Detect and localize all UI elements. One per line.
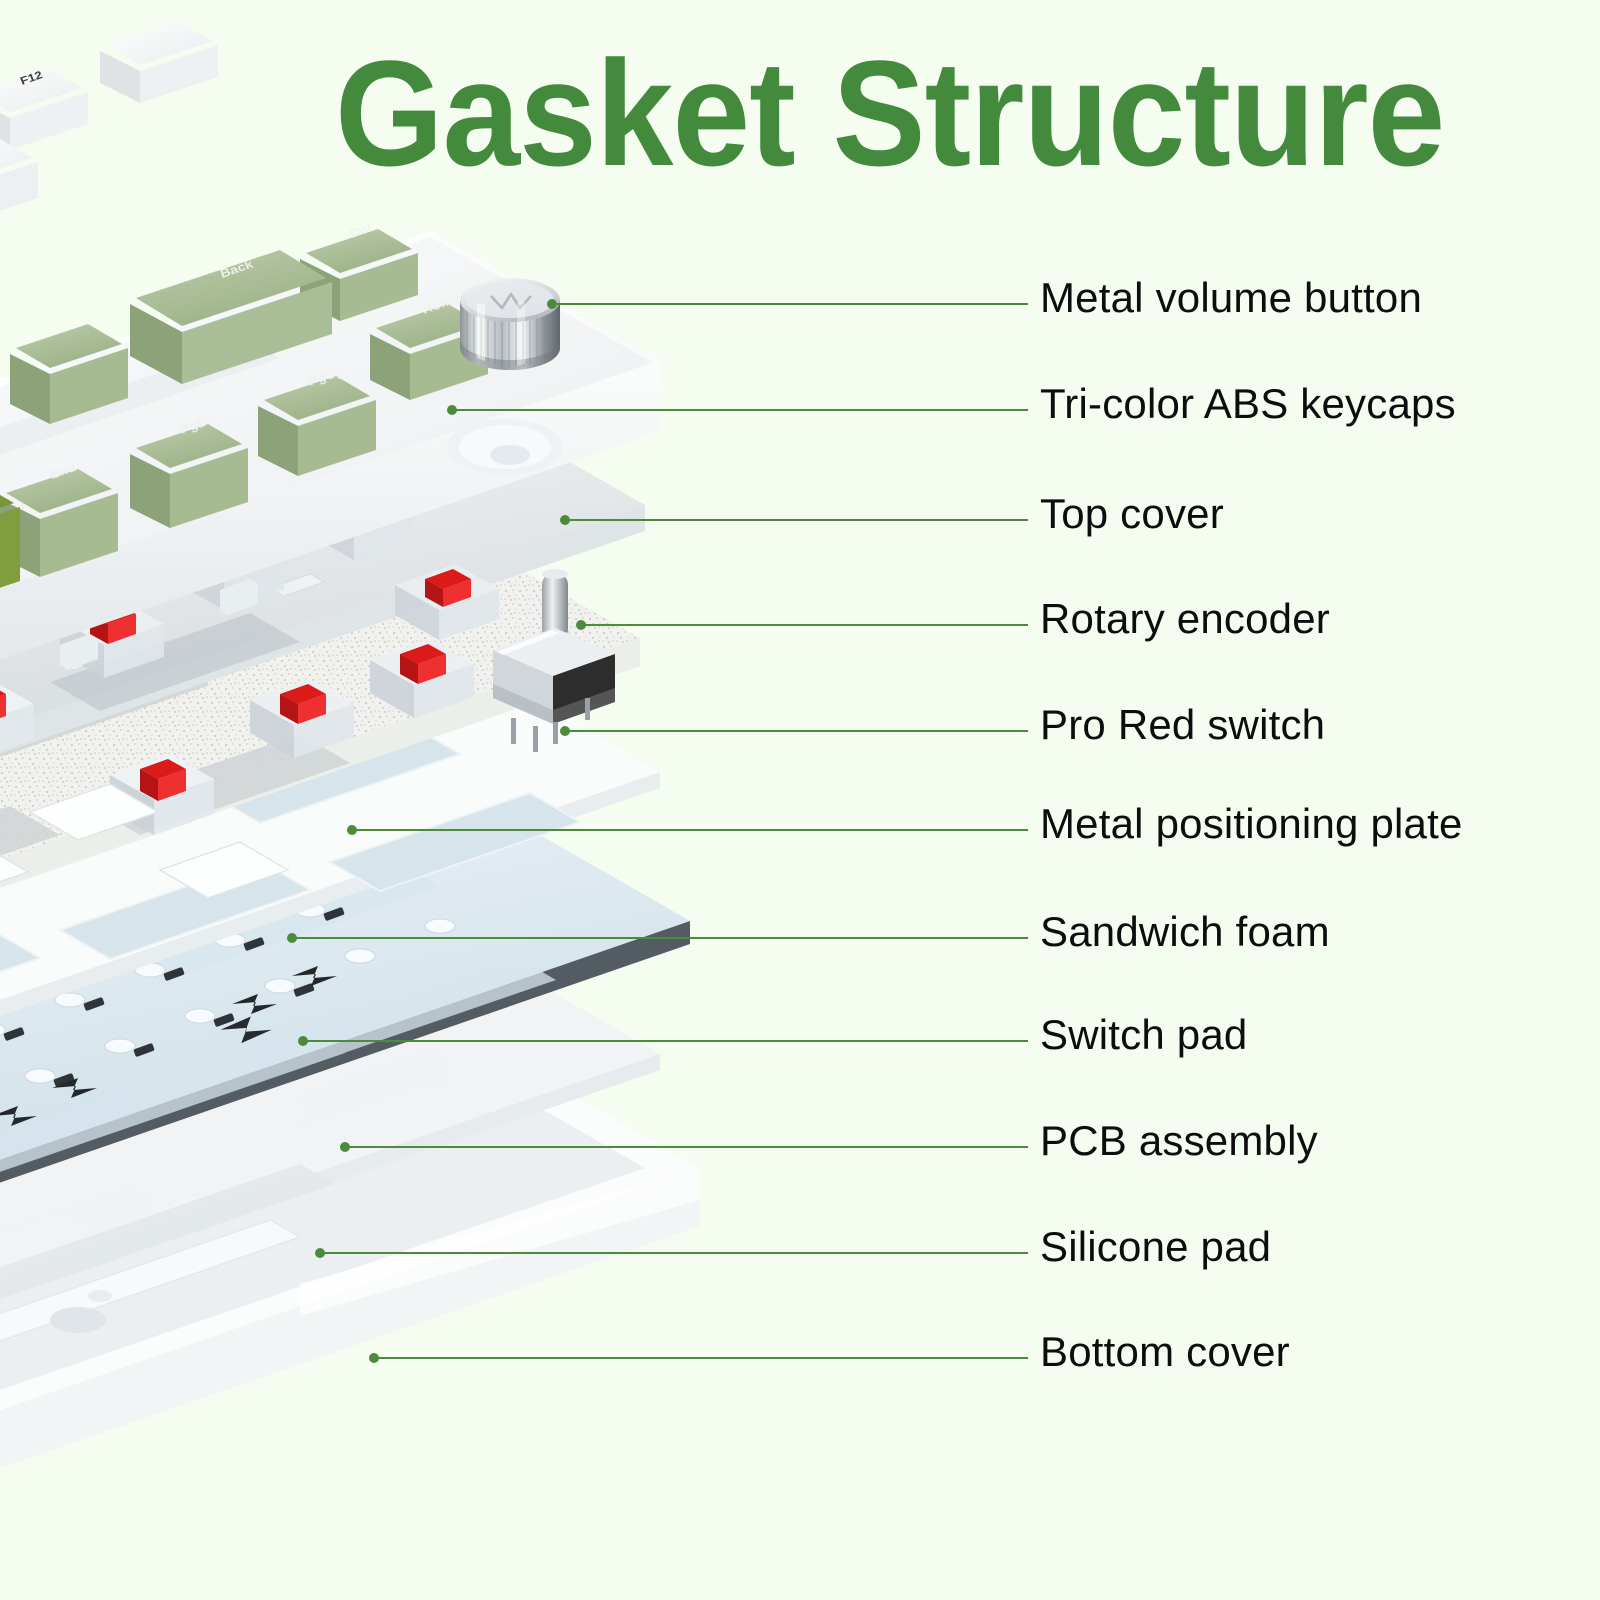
- callout-anchor-dot: [576, 620, 586, 630]
- callout-anchor-dot: [298, 1036, 308, 1046]
- callout-leader-line: [581, 624, 1028, 626]
- callout-leader-line: [452, 409, 1028, 411]
- svg-text:PgUp: PgUp: [306, 364, 346, 389]
- layer-metal-positioning-plate: [0, 376, 645, 845]
- callout-anchor-dot: [287, 933, 297, 943]
- callout-anchor-dot: [347, 825, 357, 835]
- page-title: Gasket Structure: [335, 38, 1444, 188]
- callout-anchor-dot: [547, 299, 557, 309]
- callout-leader-line: [352, 829, 1028, 831]
- callout-leader-line: [345, 1146, 1028, 1148]
- callout-label: PCB assembly: [1040, 1117, 1318, 1165]
- callout-anchor-dot: [369, 1353, 379, 1363]
- layer-pcb-assembly: [0, 786, 690, 1250]
- callout-anchor-dot: [315, 1248, 325, 1258]
- callout-leader-line: [292, 937, 1028, 939]
- callout-label: Silicone pad: [1040, 1223, 1271, 1271]
- callout-anchor-dot: [560, 515, 570, 525]
- component-metal-volume-knob: [460, 278, 560, 370]
- svg-text:PgDn: PgDn: [178, 412, 218, 437]
- callout-label: Sandwich foam: [1040, 908, 1330, 956]
- callout-leader-line: [552, 303, 1028, 305]
- callout-label: Metal volume button: [1040, 274, 1422, 322]
- callout-label: Rotary encoder: [1040, 595, 1330, 643]
- svg-text:Home: Home: [420, 291, 462, 316]
- layer-pro-red-switches: [0, 484, 499, 900]
- callout-leader-line: [320, 1252, 1028, 1254]
- callout-anchor-dot: [340, 1142, 350, 1152]
- layer-top-cover: [0, 231, 660, 760]
- callout-leader-line: [374, 1357, 1028, 1359]
- svg-text:F12: F12: [18, 68, 44, 87]
- callout-label: Top cover: [1040, 490, 1224, 538]
- callout-leader-line: [565, 519, 1028, 521]
- callout-label: Pro Red switch: [1040, 701, 1325, 749]
- callout-anchor-dot: [560, 726, 570, 736]
- callout-leader-line: [565, 730, 1028, 732]
- callout-label: Bottom cover: [1040, 1328, 1290, 1376]
- layer-switch-pad: [0, 646, 660, 1092]
- svg-text:Back: Back: [218, 257, 256, 281]
- callout-leader-line: [303, 1040, 1028, 1042]
- callout-label: Tri-color ABS keycaps: [1040, 380, 1456, 428]
- callout-anchor-dot: [447, 405, 457, 415]
- component-rotary-encoder: [493, 569, 615, 752]
- svg-text:End: End: [48, 460, 78, 481]
- layer-bottom-cover: [0, 1036, 700, 1520]
- layer-silicone-pad: [0, 928, 660, 1360]
- svg-text:Del: Del: [348, 221, 374, 241]
- callout-label: Metal positioning plate: [1040, 800, 1463, 848]
- diagram-canvas: F9 F10 F11 F12 Back Del Home PgUp PgDn E…: [0, 0, 1600, 1600]
- callout-label: Switch pad: [1040, 1011, 1247, 1059]
- layer-sandwich-foam: [0, 512, 640, 974]
